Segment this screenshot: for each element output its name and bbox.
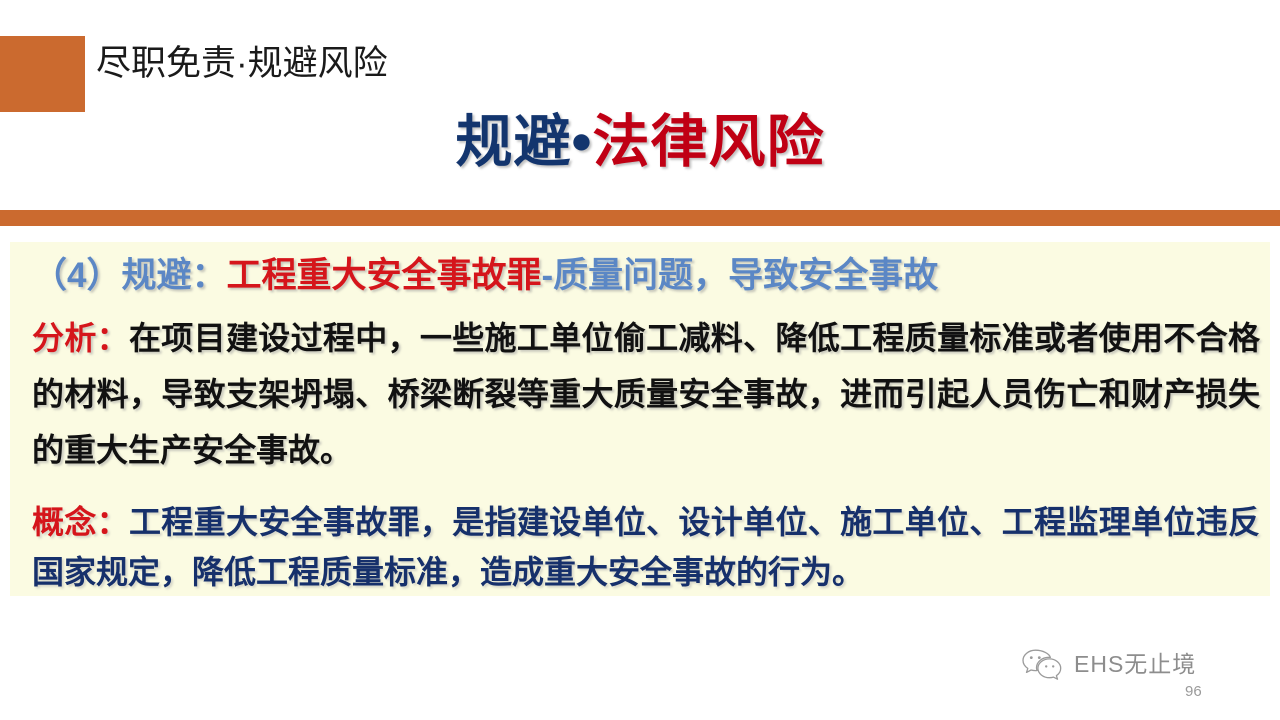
section-heading-suffix: -质量问题，导致安全事故 xyxy=(541,256,938,295)
page-title-red-part: 法律风险 xyxy=(592,110,824,174)
section-heading-crime: 工程重大安全事故罪 xyxy=(226,256,541,295)
slide-canvas: 尽职免责·规避风险 规避•法律风险 （4）规避：工程重大安全事故罪-质量问题，导… xyxy=(0,0,1280,720)
header-subtitle: 尽职免责·规避风险 xyxy=(96,38,388,90)
page-number: 96 xyxy=(1185,683,1202,701)
concept-text: 工程重大安全事故罪，是指建设单位、设计单位、施工单位、工程监理单位违反国家规定，… xyxy=(32,504,1260,590)
wechat-icon xyxy=(1020,648,1066,680)
watermark-label: EHS无止境 xyxy=(1074,651,1196,677)
analysis-label: 分析： xyxy=(32,320,129,356)
divider-bar xyxy=(0,210,1280,226)
concept-paragraph: 概念：工程重大安全事故罪，是指建设单位、设计单位、施工单位、工程监理单位违反国家… xyxy=(32,497,1260,597)
page-title-navy-part: 规避• xyxy=(456,110,593,174)
analysis-paragraph: 分析：在项目建设过程中，一些施工单位偷工减料、降低工程质量标准或者使用不合格的材… xyxy=(32,310,1260,478)
concept-label: 概念： xyxy=(32,504,129,540)
section-heading-prefix: （4）规避： xyxy=(32,256,226,295)
analysis-text: 在项目建设过程中，一些施工单位偷工减料、降低工程质量标准或者使用不合格的材料，导… xyxy=(32,320,1260,468)
content-panel: （4）规避：工程重大安全事故罪-质量问题，导致安全事故 分析：在项目建设过程中，… xyxy=(10,242,1270,596)
section-heading: （4）规避：工程重大安全事故罪-质量问题，导致安全事故 xyxy=(32,252,1262,300)
watermark: EHS无止境 xyxy=(1020,648,1196,680)
header-accent-block xyxy=(0,36,85,112)
page-title: 规避•法律风险 xyxy=(0,106,1280,178)
